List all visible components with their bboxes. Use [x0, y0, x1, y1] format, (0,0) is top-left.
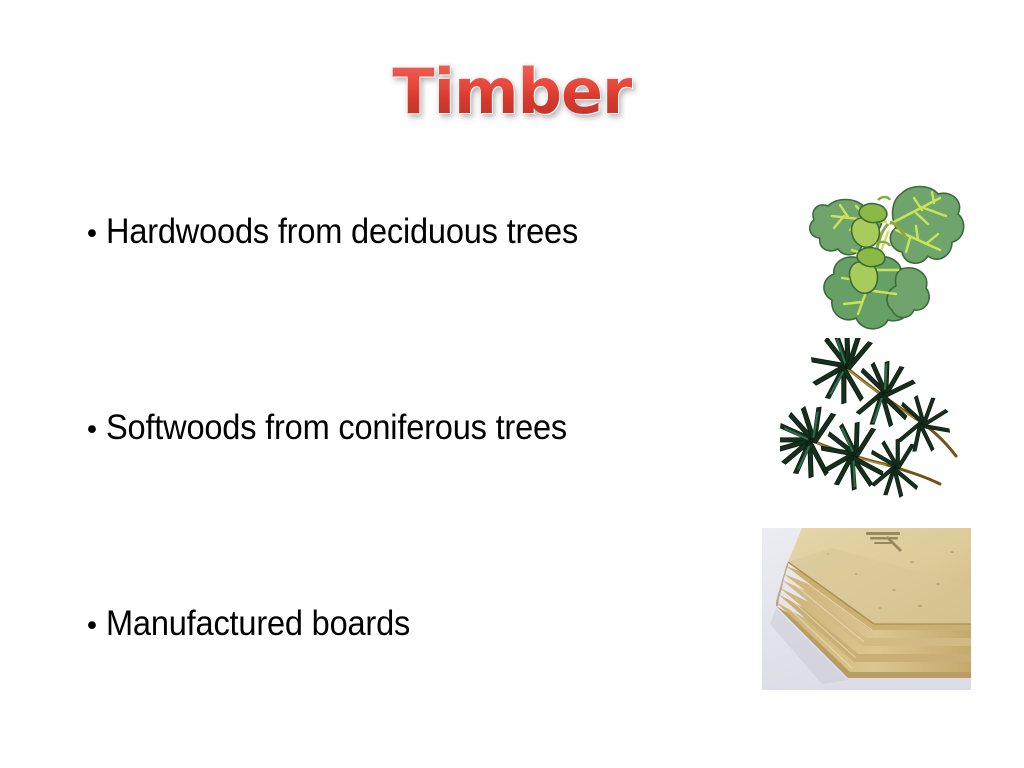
- page-title: Timber: [392, 57, 631, 127]
- conifer-branch-image: [780, 338, 980, 506]
- bullet-text-manufactured-boards: Manufactured boards: [106, 602, 410, 646]
- bullet-item-softwoods: • Softwoods from coniferous trees: [84, 406, 744, 453]
- bullet-marker-icon: •: [84, 605, 106, 649]
- title-block: Timber: [0, 57, 1024, 127]
- bullet-item-manufactured-boards: • Manufactured boards: [84, 602, 744, 649]
- bullet-text-hardwoods: Hardwoods from deciduous trees: [106, 210, 578, 254]
- bullet-text-softwoods: Softwoods from coniferous trees: [106, 406, 567, 450]
- bullet-marker-icon: •: [84, 213, 106, 257]
- bullet-marker-icon: •: [84, 409, 106, 453]
- oak-leaves-acorns-image: [806, 172, 972, 340]
- bullet-item-hardwoods: • Hardwoods from deciduous trees: [84, 210, 744, 257]
- slide-canvas: Timber • Hardwoods from deciduous trees …: [0, 0, 1024, 768]
- plywood-boards-photo: [762, 528, 971, 690]
